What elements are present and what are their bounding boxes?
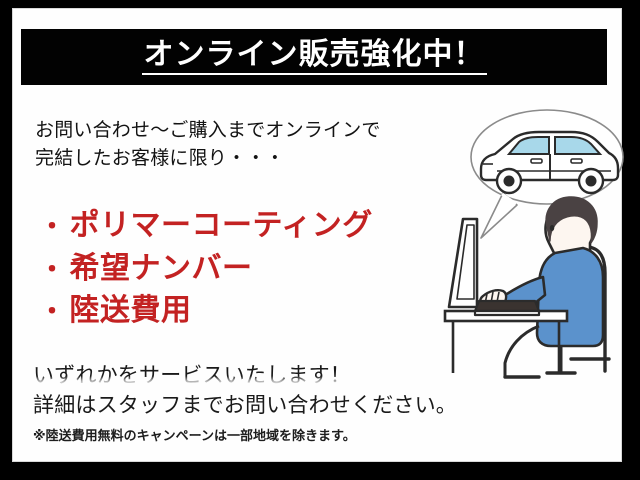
bullet-marker-icon: ・ bbox=[39, 297, 70, 327]
monitor-icon bbox=[449, 219, 477, 307]
headline-text: オンライン販売強化中！ bbox=[142, 39, 487, 75]
closing-paragraph: いずれかをサービスいたします！ 詳細はスタッフまでお問い合わせください。 ※陸送… bbox=[33, 361, 483, 444]
intro-line-2: 完結したお客様に限り・・・ bbox=[35, 145, 455, 173]
closing-line-1-wrap: いずれかをサービスいたします！ bbox=[33, 361, 483, 391]
benefit-item-2-label: 希望ナンバー bbox=[70, 251, 253, 286]
intro-line-1: お問い合わせ〜ご購入までオンラインで bbox=[35, 117, 455, 145]
intro-paragraph: お問い合わせ〜ご購入までオンラインで 完結したお客様に限り・・・ bbox=[35, 117, 455, 172]
closing-line-1: いずれかをサービスいたします！ bbox=[33, 361, 351, 391]
flyer-card: オンライン販売強化中！ お問い合わせ〜ご購入までオンラインで 完結したお客様に限… bbox=[12, 8, 622, 462]
benefit-list: ・ポリマーコーティング ・希望ナンバー ・陸送費用 bbox=[39, 205, 469, 333]
bullet-marker-icon: ・ bbox=[39, 212, 70, 242]
closing-line-2: 詳細はスタッフまでお問い合わせください。 bbox=[33, 391, 483, 421]
benefit-item-3: ・陸送費用 bbox=[39, 290, 469, 333]
flyer-canvas: オンライン販売強化中！ お問い合わせ〜ご購入までオンラインで 完結したお客様に限… bbox=[0, 0, 640, 480]
illustration bbox=[443, 101, 629, 431]
person-at-computer-icon bbox=[480, 197, 603, 377]
benefit-item-2: ・希望ナンバー bbox=[39, 248, 469, 291]
bullet-marker-icon: ・ bbox=[39, 255, 70, 285]
benefit-item-1: ・ポリマーコーティング bbox=[39, 205, 469, 248]
benefit-item-1-label: ポリマーコーティング bbox=[70, 208, 373, 243]
benefit-item-3-label: 陸送費用 bbox=[70, 293, 192, 328]
disclaimer-note: ※陸送費用無料のキャンペーンは一部地域を除きます。 bbox=[33, 425, 483, 444]
keyboard-icon bbox=[475, 301, 539, 315]
headline-banner: オンライン販売強化中！ bbox=[21, 29, 607, 85]
